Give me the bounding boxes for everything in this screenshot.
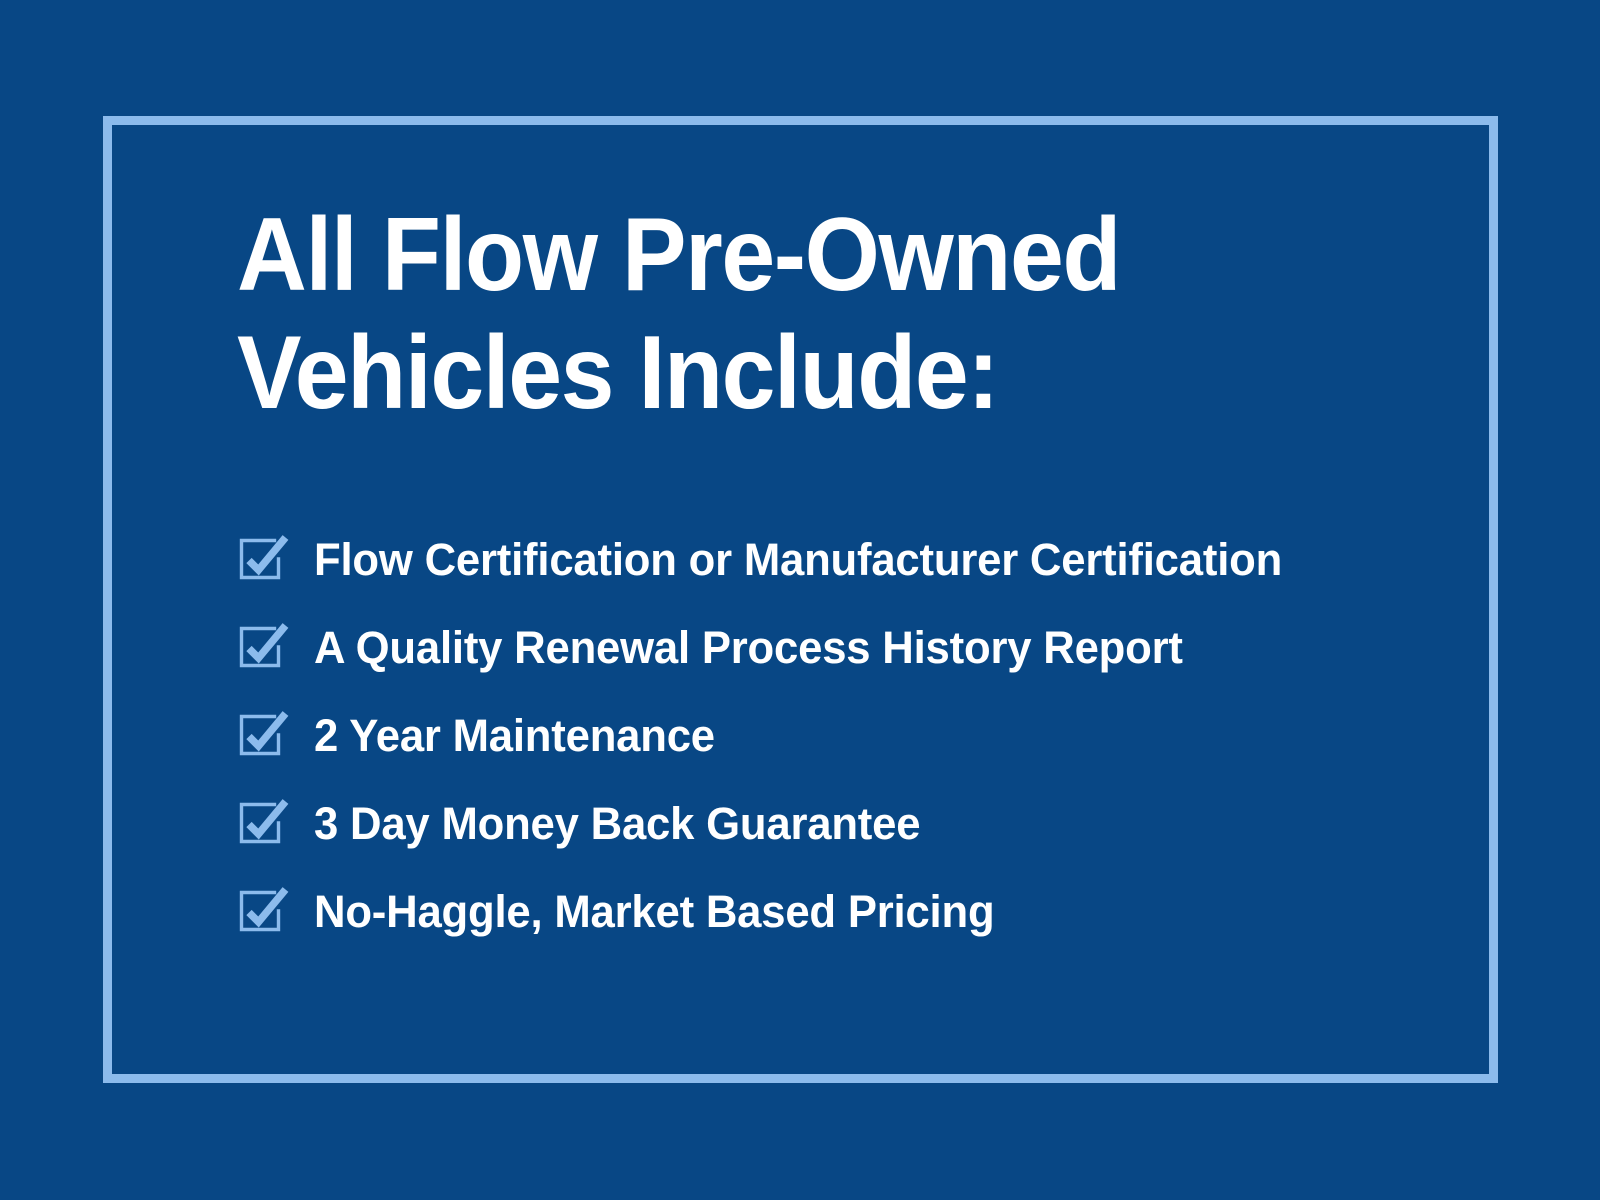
card-content: All Flow Pre-Owned Vehicles Include: Flo… — [237, 196, 1437, 432]
checkbox-checked-icon — [237, 534, 295, 586]
list-item: No-Haggle, Market Based Pricing — [237, 868, 1457, 956]
list-item-label: Flow Certification or Manufacturer Certi… — [314, 535, 1282, 585]
list-item-label: A Quality Renewal Process History Report — [314, 623, 1183, 673]
checkbox-checked-icon — [237, 798, 295, 850]
promo-card: All Flow Pre-Owned Vehicles Include: Flo… — [0, 0, 1600, 1200]
list-item: 2 Year Maintenance — [237, 692, 1457, 780]
checkbox-checked-icon — [237, 886, 295, 938]
list-item-label: 2 Year Maintenance — [314, 711, 715, 761]
list-item-label: No-Haggle, Market Based Pricing — [314, 887, 994, 937]
benefits-checklist: Flow Certification or Manufacturer Certi… — [237, 516, 1457, 956]
page-title: All Flow Pre-Owned Vehicles Include: — [237, 196, 1353, 432]
list-item: Flow Certification or Manufacturer Certi… — [237, 516, 1457, 604]
checkbox-checked-icon — [237, 710, 295, 762]
list-item: 3 Day Money Back Guarantee — [237, 780, 1457, 868]
list-item: A Quality Renewal Process History Report — [237, 604, 1457, 692]
checkbox-checked-icon — [237, 622, 295, 674]
list-item-label: 3 Day Money Back Guarantee — [314, 799, 920, 849]
